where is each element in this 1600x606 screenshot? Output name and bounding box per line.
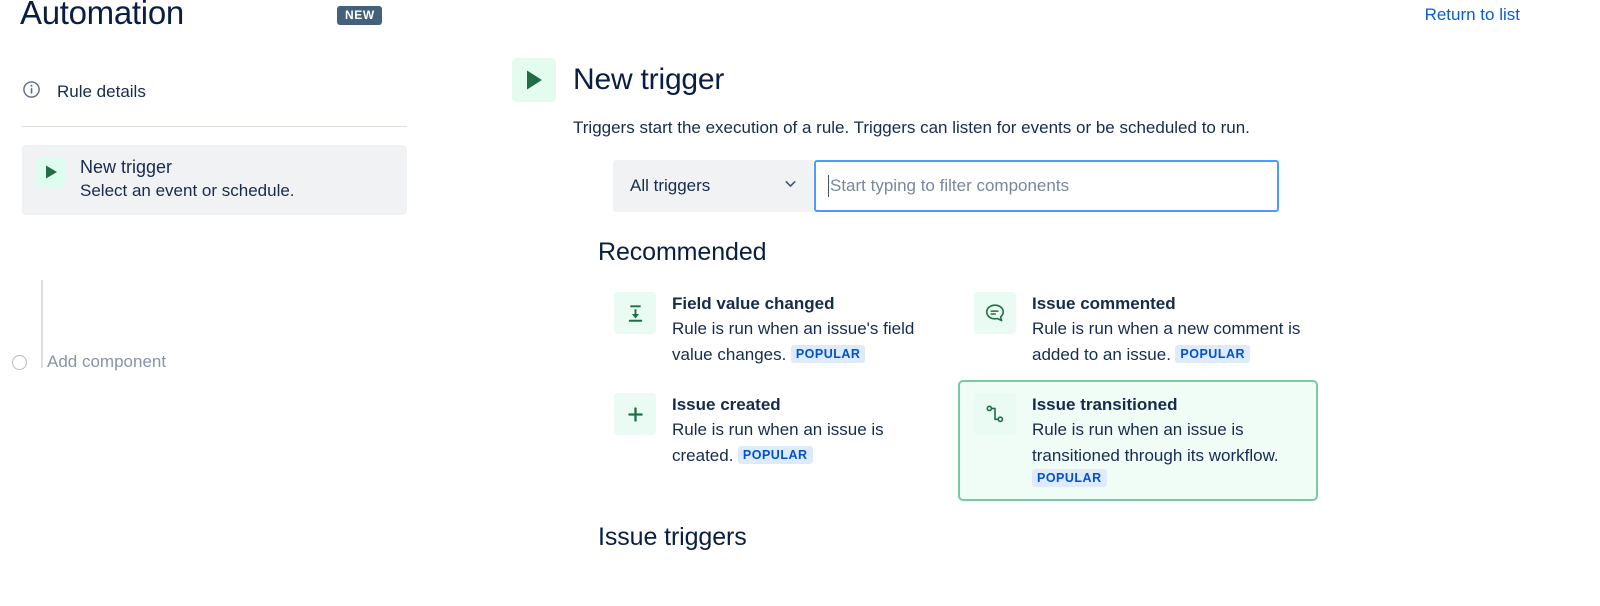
trigger-card-title: Issue created (672, 395, 781, 414)
page-header: Automation NEW Return to list (0, 0, 1600, 44)
trigger-panel-title: New trigger (573, 63, 724, 97)
sidebar-divider (22, 126, 407, 127)
info-circle-icon (22, 80, 41, 104)
status-badge: POPULAR (738, 446, 813, 464)
text-caret (828, 175, 829, 197)
search-input[interactable]: Start typing to filter components (814, 160, 1279, 212)
trigger-filter-row: All triggers Start typing to filter comp… (613, 160, 1512, 212)
sidebar-item-add-component[interactable]: Add component (0, 352, 166, 372)
sidebar-item-new-trigger[interactable]: New trigger Select an event or schedule. (22, 145, 407, 215)
trigger-card-issue-transitioned[interactable]: Issue transitioned Rule is run when an i… (958, 380, 1318, 501)
trigger-card-title: Issue commented (1032, 294, 1176, 313)
trigger-card-description: Rule is run when an issue is transitione… (1032, 420, 1279, 465)
sidebar-item-label-rule-details: Rule details (57, 82, 146, 102)
sidebar-item-rule-details[interactable]: Rule details (0, 72, 430, 112)
trigger-card-title: Issue transitioned (1032, 395, 1177, 414)
sidebar-item-title-new-trigger: New trigger (80, 155, 295, 179)
comment-bubble-icon (974, 292, 1016, 334)
trigger-card-issue-commented[interactable]: Issue commented Rule is run when a new c… (958, 279, 1318, 380)
trigger-panel-description: Triggers start the execution of a rule. … (573, 116, 1512, 140)
trigger-card-issue-created[interactable]: Issue created Rule is run when an issue … (598, 380, 958, 501)
empty-circle-icon (12, 355, 27, 370)
workflow-transition-icon (974, 393, 1016, 435)
trigger-card-field-value-changed[interactable]: Field value changed Rule is run when an … (598, 279, 958, 380)
trigger-type-select[interactable]: All triggers (613, 160, 813, 212)
automation-trigger-page: Automation NEW Return to list Rule detai… (0, 0, 1600, 606)
rule-sidebar: Rule details New trigger Select an event… (0, 72, 430, 215)
recommended-section-title: Recommended (598, 238, 1512, 267)
chevron-down-icon (782, 175, 799, 197)
return-to-list-link[interactable]: Return to list (1425, 5, 1520, 25)
page-title: Automation (20, 0, 184, 32)
play-triangle-icon (36, 157, 66, 187)
plus-icon (614, 393, 656, 435)
issue-triggers-section-title: Issue triggers (598, 523, 1512, 552)
import-arrow-down-icon (614, 292, 656, 334)
trigger-card-title: Field value changed (672, 294, 835, 313)
status-badge: POPULAR (1032, 469, 1107, 487)
status-badge: POPULAR (1175, 345, 1250, 363)
trigger-type-select-value: All triggers (630, 176, 710, 196)
search-input-placeholder: Start typing to filter components (830, 176, 1069, 196)
trigger-card-description: Rule is run when a new comment is added … (1032, 319, 1300, 364)
play-triangle-icon (512, 58, 556, 102)
status-badge: POPULAR (791, 345, 866, 363)
trigger-panel-header: New trigger (512, 58, 1512, 102)
trigger-picker-panel: New trigger Triggers start the execution… (512, 58, 1512, 552)
sidebar-item-subtitle-new-trigger: Select an event or schedule. (80, 179, 295, 203)
recommended-trigger-list: Field value changed Rule is run when an … (598, 279, 1512, 501)
new-badge: NEW (337, 6, 382, 25)
sidebar-item-label-add-component: Add component (47, 352, 166, 372)
